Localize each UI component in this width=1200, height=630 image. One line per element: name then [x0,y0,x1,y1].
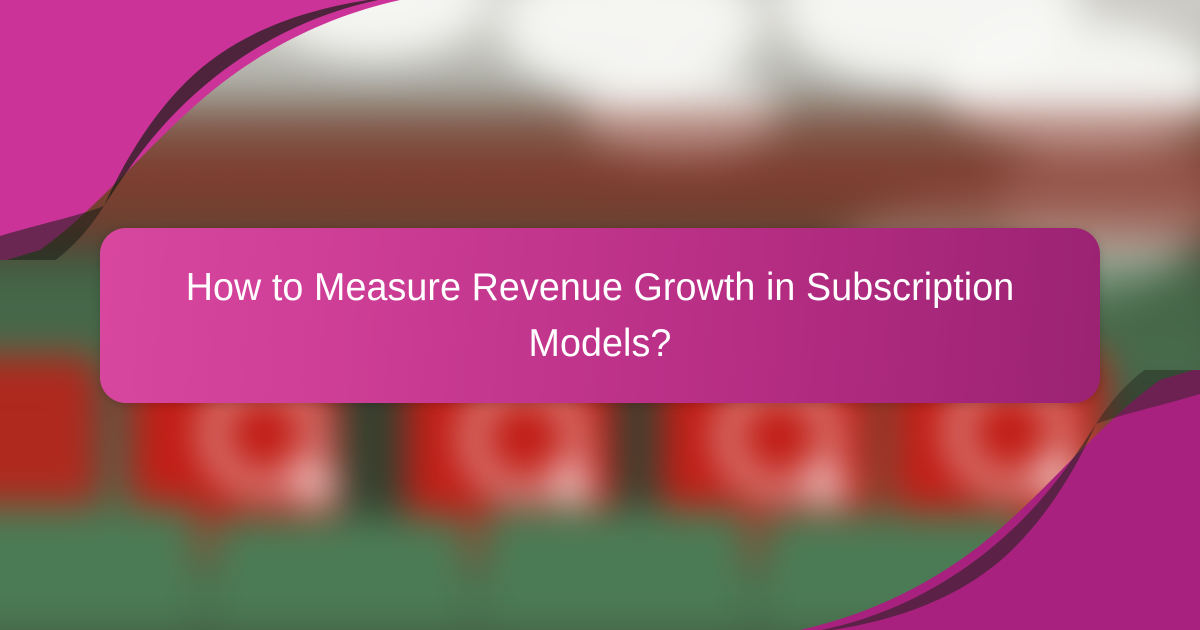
seat-block-green [210,515,470,625]
page-title: How to Measure Revenue Growth in Subscri… [185,260,1015,371]
seat-block-green [480,508,750,626]
star-mark [555,468,593,506]
bottom-right-swoosh-decoration [800,370,1200,630]
seat-block-green [0,505,200,625]
top-left-swoosh-decoration [0,0,400,260]
title-card: How to Measure Revenue Growth in Subscri… [100,228,1100,403]
social-share-banner: How to Measure Revenue Growth in Subscri… [0,0,1200,630]
star-mark [295,465,335,505]
